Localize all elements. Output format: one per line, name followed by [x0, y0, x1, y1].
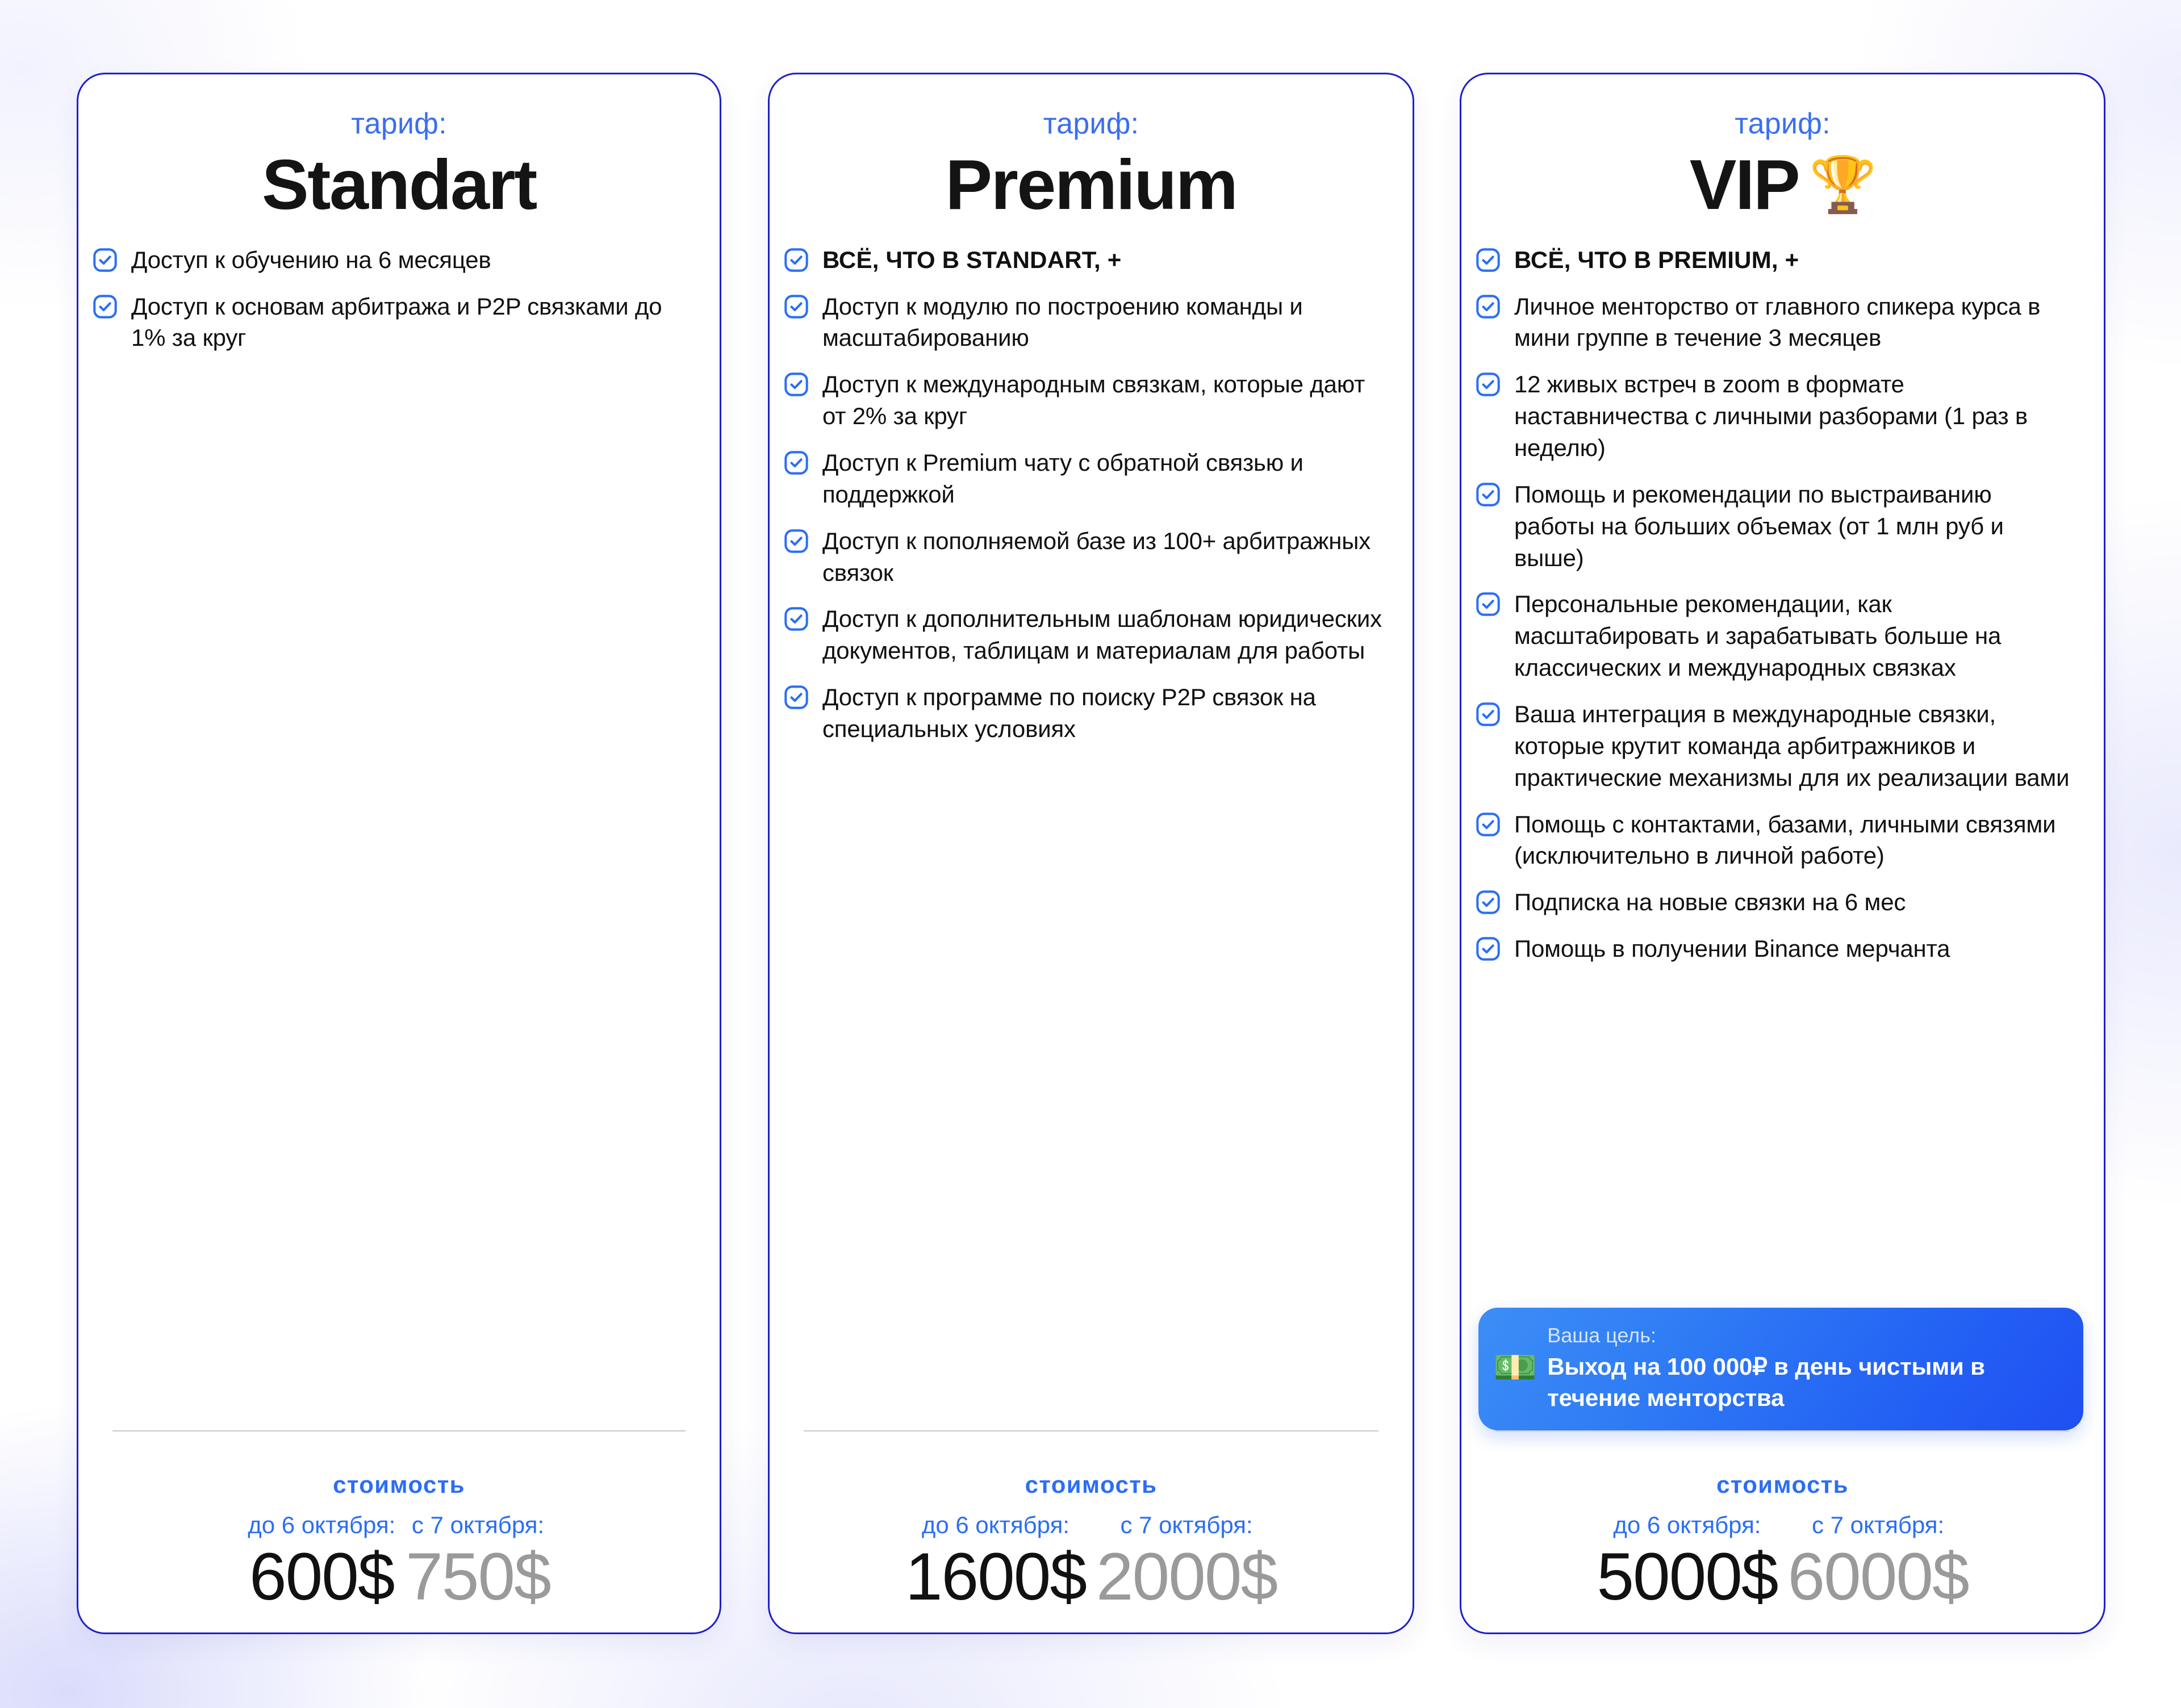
pricing-footer-premium: стоимость до 6 октября: 1600$ с 7 октябр… [770, 1430, 1413, 1632]
price-value-old: 750$ [406, 1541, 550, 1613]
feature-list-premium: ВСЁ, ЧТО В STANDART, + Доступ к модулю п… [770, 225, 1413, 1431]
check-circle-icon [784, 606, 809, 631]
check-circle-icon [784, 294, 809, 319]
price-grid: до 6 октября: 1600$ с 7 октября: 2000$ [804, 1511, 1378, 1613]
price-early: до 6 октября: 5000$ [1597, 1511, 1777, 1613]
pricing-footer-vip: стоимость до 6 октября: 5000$ с 7 октябр… [1461, 1430, 2104, 1632]
price-date-label: с 7 октября: [1788, 1511, 1969, 1539]
tariff-kicker: тариф: [78, 107, 720, 141]
cost-heading: стоимость [112, 1471, 686, 1498]
list-item: Помощь в получении Binance мерчанта [1476, 933, 2076, 965]
feature-text: 12 живых встреч в zoom в формате наставн… [1514, 369, 2076, 464]
footer-divider [1495, 1430, 2070, 1431]
price-early: до 6 октября: 600$ [248, 1511, 395, 1613]
list-item: Ваша интеграция в международные связки, … [1476, 698, 2076, 794]
feature-text: Доступ к пополняемой базе из 100+ арбитр… [822, 525, 1385, 589]
page-title: Standart [78, 146, 720, 225]
check-circle-icon [1476, 812, 1501, 837]
list-item: Персональные рекомендации, как масштабир… [1476, 588, 2076, 684]
list-item: Доступ к основам арбитража и P2P связкам… [93, 291, 692, 354]
list-item: Доступ к международным связкам, которые … [784, 369, 1385, 432]
list-item: ВСЁ, ЧТО В STANDART, + [784, 244, 1385, 276]
price-date-label: с 7 октября: [406, 1511, 550, 1539]
feature-text: Персональные рекомендации, как масштабир… [1514, 588, 2076, 684]
tariff-kicker: тариф: [770, 107, 1413, 141]
price-date-label: с 7 октября: [1096, 1511, 1277, 1539]
trophy-icon: 🏆 [1809, 158, 1875, 212]
price-date-label: до 6 октября: [1597, 1511, 1777, 1539]
check-circle-icon [1476, 482, 1501, 507]
goal-kicker: Ваша цель: [1547, 1322, 2064, 1348]
price-late: с 7 октября: 750$ [406, 1511, 550, 1613]
cost-heading: стоимость [804, 1471, 1378, 1498]
check-circle-icon [1476, 294, 1501, 319]
list-item: Помощь с контактами, базами, личными свя… [1476, 809, 2076, 872]
goal-statement: Выход на 100 000₽ в день чистыми в течен… [1547, 1351, 2064, 1413]
feature-text: ВСЁ, ЧТО В STANDART, + [822, 244, 1121, 276]
pricing-cards-container: тариф: Standart Доступ к обучению на 6 м… [0, 0, 2181, 1708]
price-value: 600$ [248, 1541, 395, 1613]
feature-text: Помощь в получении Binance мерчанта [1514, 933, 1950, 965]
goal-text-block: Ваша цель: Выход на 100 000₽ в день чист… [1547, 1322, 2064, 1413]
pricing-card-premium[interactable]: тариф: Premium ВСЁ, ЧТО В STANDART, + [768, 73, 1414, 1634]
pricing-card-standart[interactable]: тариф: Standart Доступ к обучению на 6 м… [77, 73, 721, 1634]
feature-text: Помощь и рекомендации по выстраиванию ра… [1514, 479, 2076, 574]
pricing-card-vip[interactable]: тариф: VIP 🏆 ВСЁ, ЧТО В PREMIUM, + [1460, 73, 2105, 1634]
feature-text: Доступ к дополнительным шаблонам юридиче… [822, 603, 1385, 667]
tariff-name-text: Standart [262, 146, 536, 225]
feature-text: ВСЁ, ЧТО В PREMIUM, + [1514, 244, 1799, 276]
check-circle-icon [784, 450, 809, 475]
list-item: Доступ к обучению на 6 месяцев [93, 244, 692, 276]
footer-divider [112, 1430, 686, 1431]
price-value: 5000$ [1597, 1541, 1777, 1613]
page-title: VIP 🏆 [1461, 146, 2104, 225]
card-header-standart: тариф: Standart [78, 74, 720, 225]
card-header-premium: тариф: Premium [770, 74, 1413, 225]
check-circle-icon [1476, 890, 1501, 915]
feature-list-standart: Доступ к обучению на 6 месяцев Доступ к … [78, 225, 720, 1431]
tariff-name-text: VIP [1690, 146, 1799, 225]
check-circle-icon [1476, 592, 1501, 617]
check-circle-icon [1476, 702, 1501, 727]
feature-text: Доступ к модулю по построению команды и … [822, 291, 1385, 354]
check-circle-icon [784, 372, 809, 397]
feature-text: Доступ к обучению на 6 месяцев [131, 244, 491, 276]
money-banknote-icon: 💵 [1493, 1350, 1537, 1385]
list-item: Доступ к дополнительным шаблонам юридиче… [784, 603, 1385, 667]
list-item: Доступ к программе по поиску P2P связок … [784, 681, 1385, 745]
price-late: с 7 октября: 2000$ [1096, 1511, 1277, 1613]
list-item: ВСЁ, ЧТО В PREMIUM, + [1476, 244, 2076, 276]
list-item: Доступ к Premium чату с обратной связью … [784, 447, 1385, 510]
list-item: 12 живых встреч в zoom в формате наставн… [1476, 369, 2076, 464]
feature-text: Доступ к международным связкам, которые … [822, 369, 1385, 432]
feature-list-vip: ВСЁ, ЧТО В PREMIUM, + Личное менторство … [1461, 225, 2104, 1301]
check-circle-icon [93, 294, 118, 319]
price-early: до 6 октября: 1600$ [905, 1511, 1086, 1613]
check-circle-icon [1476, 372, 1501, 397]
check-circle-icon [1476, 936, 1501, 961]
feature-text: Доступ к Premium чату с обратной связью … [822, 447, 1385, 510]
feature-text: Личное менторство от главного спикера ку… [1514, 291, 2076, 354]
card-header-vip: тариф: VIP 🏆 [1461, 74, 2104, 225]
list-item: Доступ к модулю по построению команды и … [784, 291, 1385, 354]
check-circle-icon [784, 685, 809, 710]
tariff-name-text: Premium [945, 146, 1236, 225]
price-date-label: до 6 октября: [248, 1511, 395, 1539]
price-value-old: 6000$ [1788, 1541, 1969, 1613]
tariff-kicker: тариф: [1461, 107, 2104, 141]
footer-divider [804, 1430, 1378, 1431]
price-grid: до 6 октября: 600$ с 7 октября: 750$ [112, 1511, 686, 1613]
list-item: Подписка на новые связки на 6 мес [1476, 886, 2076, 918]
check-circle-icon [93, 248, 118, 273]
feature-text: Доступ к основам арбитража и P2P связкам… [131, 291, 692, 354]
price-grid: до 6 октября: 5000$ с 7 октября: 6000$ [1495, 1511, 2070, 1613]
price-late: с 7 октября: 6000$ [1788, 1511, 1969, 1613]
price-value-old: 2000$ [1096, 1541, 1277, 1613]
feature-text: Помощь с контактами, базами, личными свя… [1514, 809, 2076, 872]
feature-text: Подписка на новые связки на 6 мес [1514, 886, 1906, 918]
check-circle-icon [784, 529, 809, 554]
cost-heading: стоимость [1495, 1471, 2070, 1498]
check-circle-icon [784, 248, 809, 273]
feature-text: Доступ к программе по поиску P2P связок … [822, 681, 1385, 745]
check-circle-icon [1476, 248, 1501, 273]
feature-text: Ваша интеграция в международные связки, … [1514, 698, 2076, 794]
goal-banner: 💵 Ваша цель: Выход на 100 000₽ в день чи… [1478, 1308, 2083, 1430]
pricing-footer-standart: стоимость до 6 октября: 600$ с 7 октября… [78, 1430, 720, 1632]
price-value: 1600$ [905, 1541, 1086, 1613]
list-item: Доступ к пополняемой базе из 100+ арбитр… [784, 525, 1385, 589]
page-title: Premium [770, 146, 1413, 225]
list-item: Личное менторство от главного спикера ку… [1476, 291, 2076, 354]
price-date-label: до 6 октября: [905, 1511, 1086, 1539]
list-item: Помощь и рекомендации по выстраиванию ра… [1476, 479, 2076, 574]
